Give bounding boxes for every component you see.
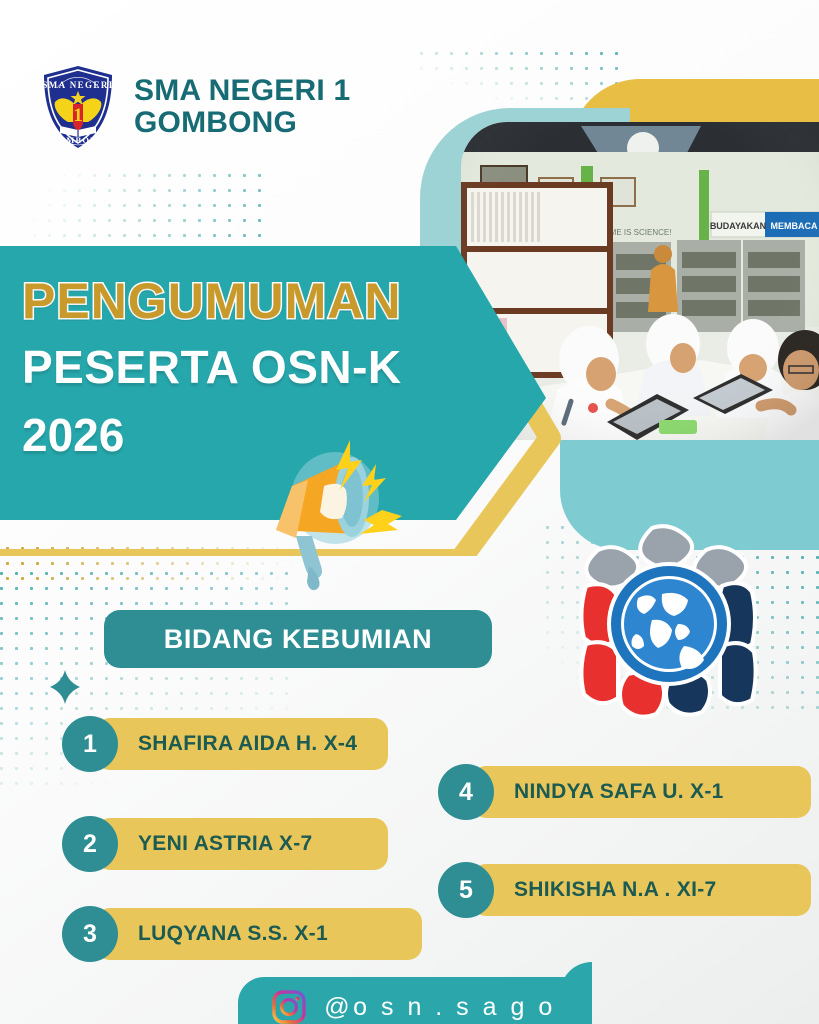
field-badge: BIDANG KEBUMIAN (104, 610, 492, 668)
participant-name: LUQYANA S.S. X-1 (96, 908, 422, 960)
poster-header: SMA NEGERI 1 GOMBONG SMA NEGERI 1 GOMBON… (40, 64, 350, 150)
participant-name: YENI ASTRIA X-7 (96, 818, 388, 870)
participant-row: 5 SHIKISHA N.A . XI-7 (438, 862, 811, 918)
instagram-footer-bar: @o s n . s a g o (238, 977, 590, 1024)
school-name-text: SMA NEGERI 1 GOMBONG (134, 75, 350, 140)
svg-text:GOMBONG: GOMBONG (51, 135, 106, 145)
osn-cube-logo (566, 524, 771, 719)
participant-number: 3 (62, 906, 118, 962)
announcement-line-2: PESERTA OSN-K (22, 344, 492, 390)
announcement-line-1: PENGUMUMAN (22, 276, 492, 326)
megaphone-icon (252, 438, 422, 603)
participant-row: 4 NINDYA SAFA U. X-1 (438, 764, 811, 820)
poster-canvas: SMA NEGERI 1 GOMBONG SMA NEGERI 1 GOMBON… (0, 0, 819, 1024)
participant-name: NINDYA SAFA U. X-1 (472, 766, 811, 818)
participant-row: 1 SHAFIRA AIDA H. X-4 (62, 716, 388, 772)
instagram-handle[interactable]: @o s n . s a g o (324, 993, 555, 1022)
participant-number: 5 (438, 862, 494, 918)
sparkle-icon (50, 670, 80, 704)
field-badge-label: BIDANG KEBUMIAN (164, 624, 433, 655)
school-shield-logo: SMA NEGERI 1 GOMBONG (40, 64, 116, 150)
instagram-icon[interactable] (272, 990, 306, 1024)
participant-number: 2 (62, 816, 118, 872)
svg-text:SMA NEGERI: SMA NEGERI (42, 80, 113, 90)
participant-number: 4 (438, 764, 494, 820)
svg-text:1: 1 (73, 105, 83, 126)
participant-number: 1 (62, 716, 118, 772)
participant-row: 3 LUQYANA S.S. X-1 (62, 906, 422, 962)
participant-name: SHAFIRA AIDA H. X-4 (96, 718, 388, 770)
announcement-text-block: PENGUMUMAN PESERTA OSN-K 2026 (22, 276, 492, 458)
participant-row: 2 YENI ASTRIA X-7 (62, 816, 388, 872)
participant-name: SHIKISHA N.A . XI-7 (472, 864, 811, 916)
